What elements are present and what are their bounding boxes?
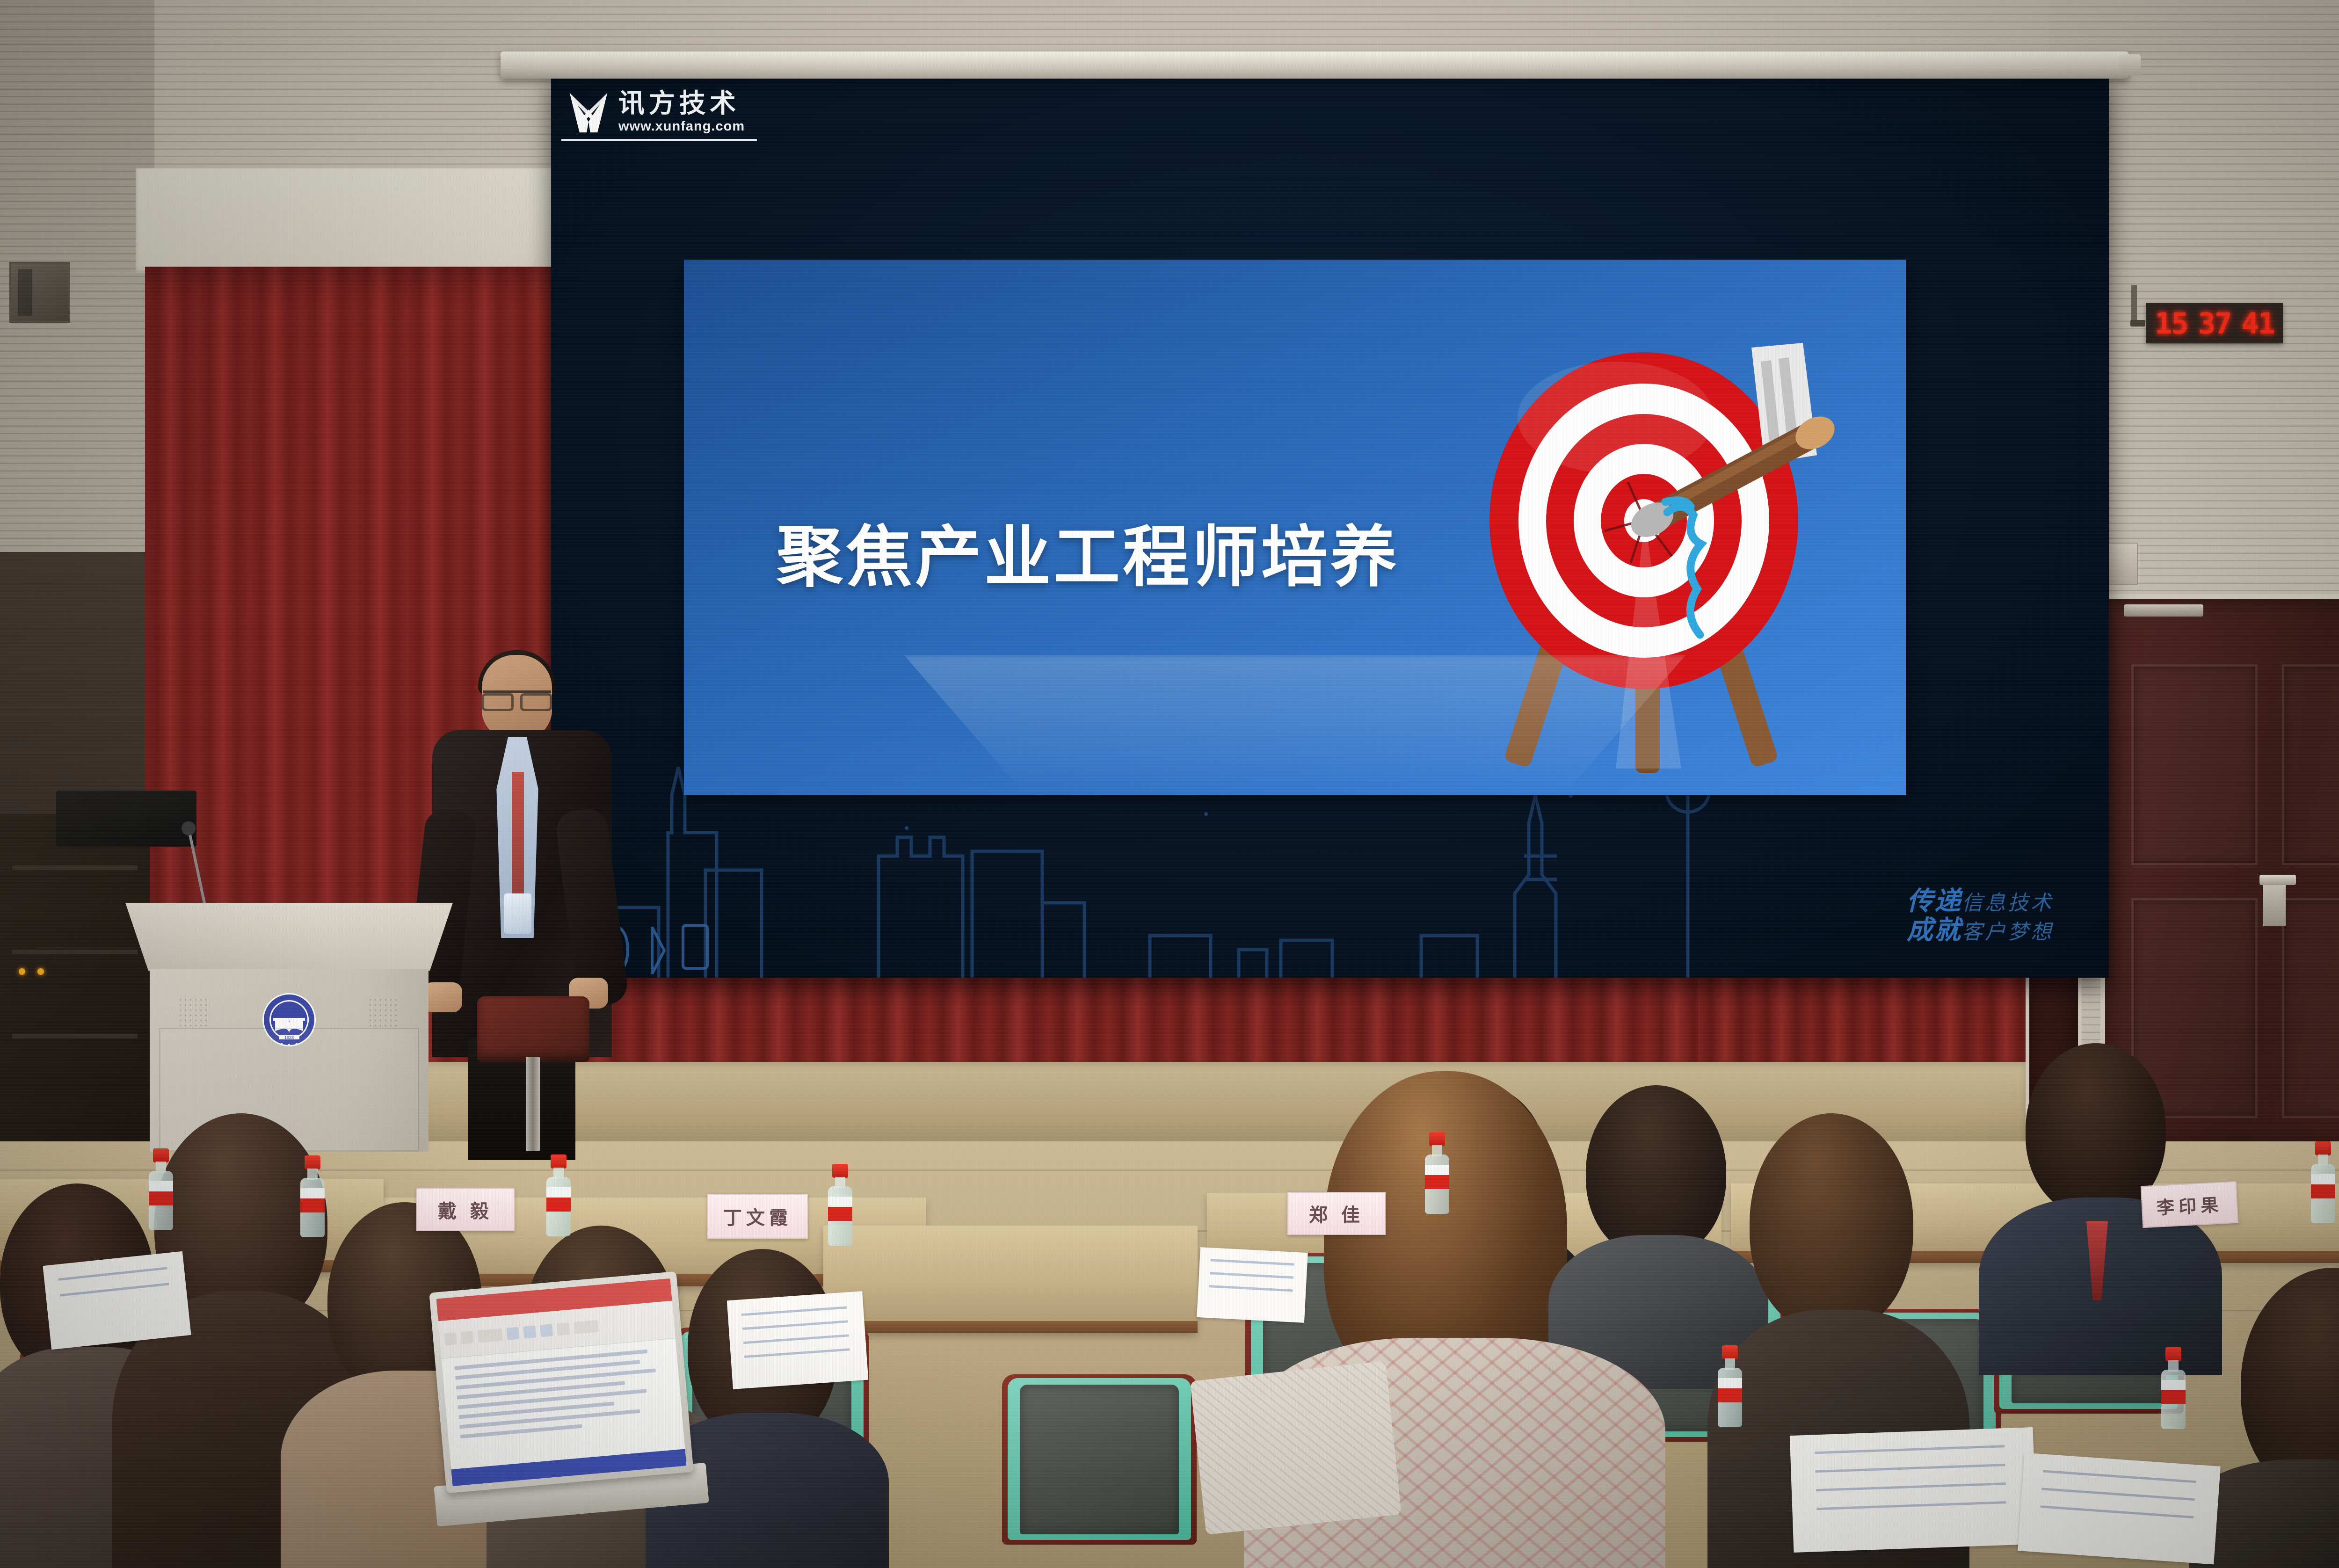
tagline-line1-bold: 传递 xyxy=(1907,886,1962,915)
stage-stool[interactable] xyxy=(477,996,589,1151)
water-bottle xyxy=(1718,1345,1742,1427)
door-closer xyxy=(2124,604,2203,617)
wall-vent xyxy=(9,262,70,323)
name-placard-4: 李印果 xyxy=(2141,1181,2238,1228)
handout-paper xyxy=(1790,1427,2037,1553)
clock-minutes: 37 xyxy=(2198,306,2231,341)
led-wall-clock: 15 37 41 xyxy=(2146,303,2283,343)
tagline-line2-bold: 成就 xyxy=(1907,915,1962,944)
lanyard xyxy=(512,772,524,903)
handout-paper xyxy=(1197,1247,1308,1323)
audience-member xyxy=(1750,1113,1913,1333)
slide-title: 聚焦产业工程师培养 xyxy=(777,503,1400,599)
attendee-laptop[interactable] xyxy=(429,1271,693,1494)
presentation-tagline: 传递信息技术 成就客户梦想 xyxy=(1907,886,2054,945)
water-bottle xyxy=(546,1154,571,1236)
audience-member xyxy=(1586,1085,1726,1258)
water-bottle xyxy=(1425,1132,1449,1214)
water-bottle xyxy=(828,1164,852,1246)
audience-desk-left-2 xyxy=(823,1226,1198,1333)
handout-paper xyxy=(2018,1453,2221,1565)
handout-paper xyxy=(727,1291,869,1389)
water-bottle xyxy=(149,1148,173,1230)
slide-panel: 聚焦产业工程师培养 xyxy=(684,260,1906,795)
water-bottle xyxy=(2161,1347,2186,1429)
clock-bracket xyxy=(2131,285,2137,323)
name-placard-1: 戴 毅 xyxy=(416,1188,515,1231)
glasses-icon xyxy=(483,690,551,704)
audience-chair[interactable] xyxy=(1020,1385,1179,1534)
lecture-hall-scene: 15 37 41 讯方技术 www.xunfang.com xyxy=(0,0,2339,1568)
clock-seconds: 41 xyxy=(2241,306,2274,341)
id-badge xyxy=(504,893,531,934)
tagline-line1-thin: 信息技术 xyxy=(1962,892,2054,915)
document-body xyxy=(442,1338,685,1469)
tagline-line2-thin: 客户梦想 xyxy=(1962,921,2054,944)
lectern-top xyxy=(125,903,453,971)
control-monitor xyxy=(56,791,196,847)
door-panel xyxy=(2282,664,2339,865)
name-placard-2: 丁文霞 xyxy=(707,1194,808,1239)
presentation-brand-plate: 讯方技术 www.xunfang.com xyxy=(561,86,757,141)
laptop-screen xyxy=(436,1278,686,1486)
projection-screen: 讯方技术 www.xunfang.com xyxy=(551,73,2109,978)
xunfang-logo xyxy=(566,89,611,134)
water-bottle xyxy=(2311,1141,2335,1223)
door-panel xyxy=(2131,664,2258,865)
projector-screen-roller xyxy=(501,51,2128,79)
door-handle[interactable] xyxy=(2259,875,2296,885)
handout-paper xyxy=(43,1251,191,1350)
name-placard-3: 郑 佳 xyxy=(1287,1192,1386,1235)
laptop-lid xyxy=(429,1271,693,1494)
clock-hours: 15 xyxy=(2155,306,2188,341)
door-panel xyxy=(2282,898,2339,1118)
brand-company-name: 讯方技术 xyxy=(618,90,745,116)
handbag xyxy=(1190,1361,1402,1535)
water-bottle xyxy=(300,1155,325,1237)
brand-website: www.xunfang.com xyxy=(618,120,745,133)
